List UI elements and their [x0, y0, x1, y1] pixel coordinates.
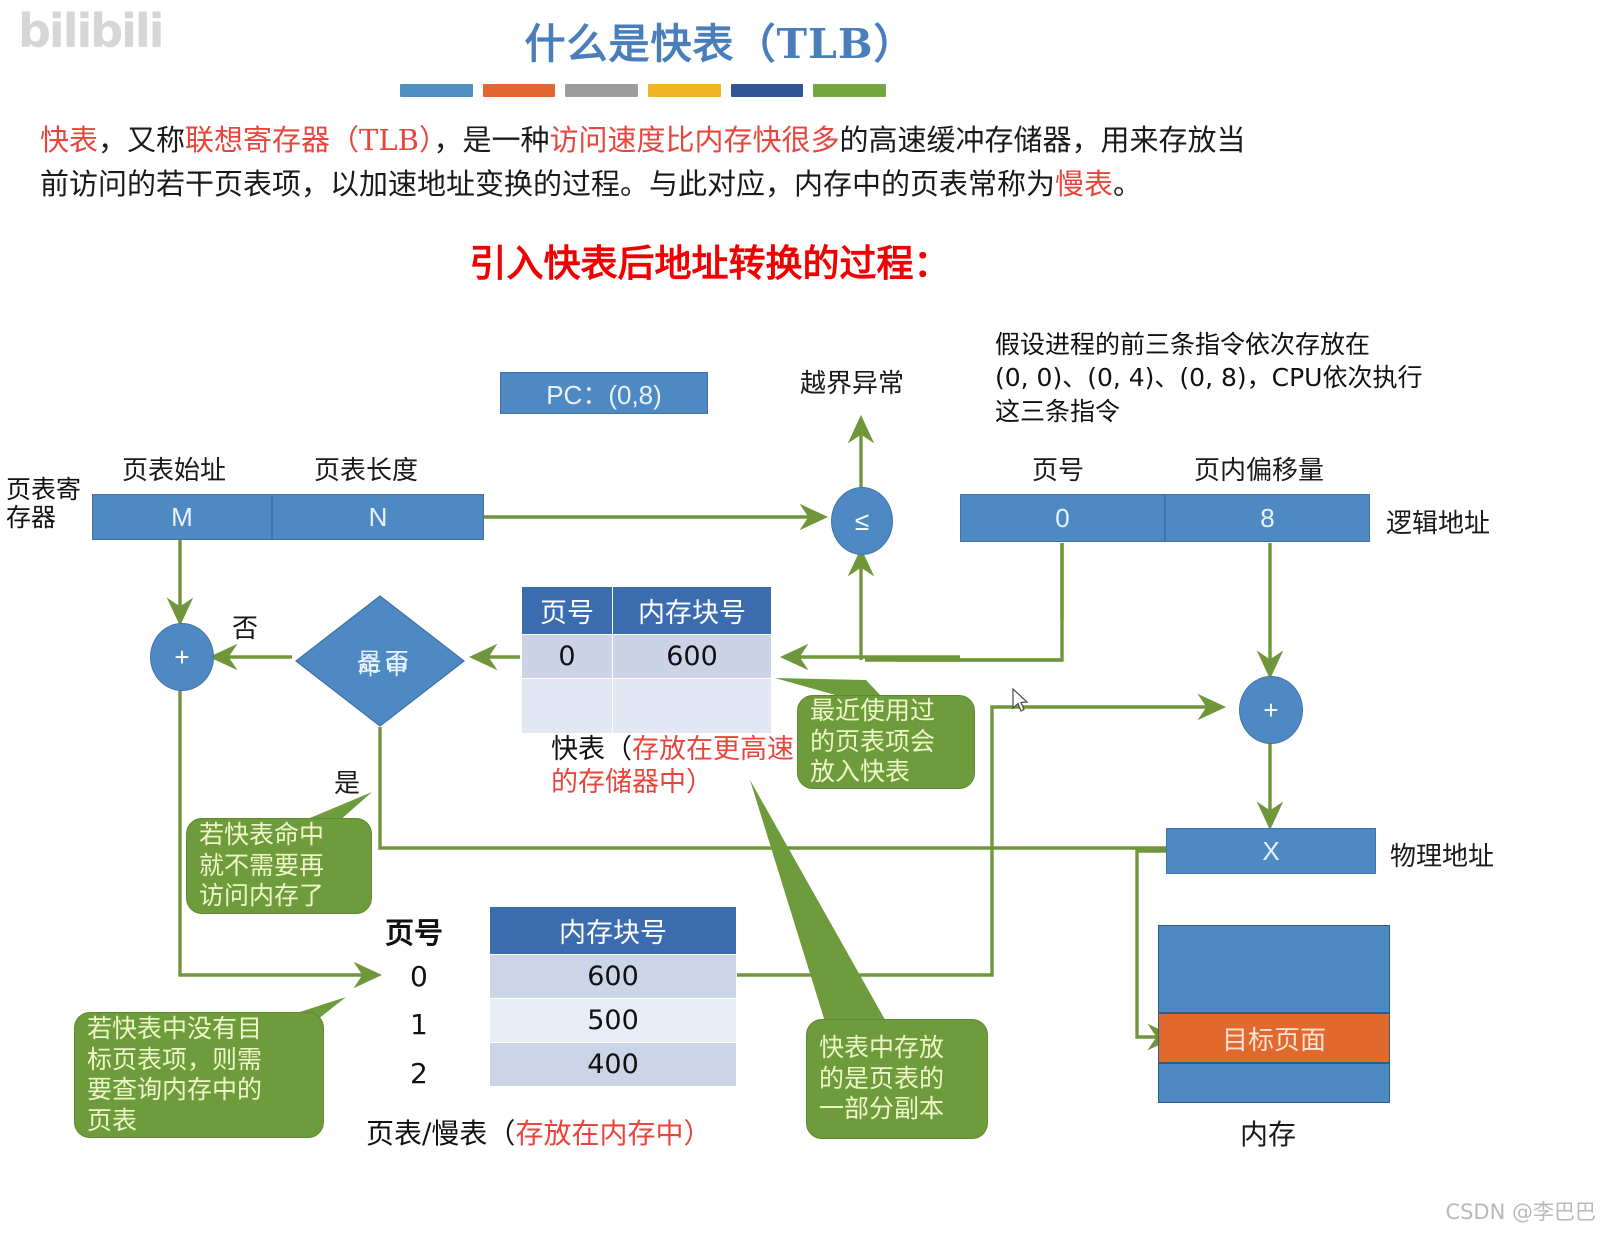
page-table-caption-black: 页表/慢表（ [366, 1117, 515, 1150]
page-table-caption: 页表/慢表（存放在内存中） [366, 1112, 711, 1152]
physical-address-box: X [1166, 828, 1376, 874]
page-table-value-2: 400 [490, 1043, 737, 1087]
logical-address-caption: 逻辑地址 [1386, 503, 1490, 540]
page-table-register-label-text: 页表寄存器 [6, 475, 81, 532]
accent-bar-4 [648, 84, 721, 97]
intro-text-4: ，是一种 [433, 123, 549, 157]
logical-address-offset: 8 [1165, 494, 1370, 542]
target-page-label: 目标页面 [1222, 1020, 1326, 1057]
intro-text-7: 前访问的若干页表项，以加速地址变换的过程。与此对应，内存中的页表常称为 [40, 167, 1055, 201]
tlb-hit-decision: 是否 命 中 [295, 595, 465, 727]
callout-miss-query-memory: 若快表中没有目 标页表项，则需 要查询内存中的 页表 [74, 1012, 324, 1138]
compare-circle: ≤ [831, 487, 893, 555]
memory-segment-target-page: 目标页面 [1158, 1013, 1390, 1063]
diamond-col-4: 中 [381, 653, 406, 677]
callout-hit-no-memory: 若快表命中 就不需要再 访问内存了 [186, 818, 372, 914]
tlb-table: 页号 内存块号 0 600 [521, 586, 772, 734]
physical-address-label: 物理地址 [1390, 836, 1494, 873]
tlb-cell-block-1 [613, 679, 772, 734]
tlb-caption-black: 快表（ [551, 734, 632, 765]
tlb-copy-callout-tail [740, 775, 920, 1035]
memory-label: 内存 [1240, 1113, 1296, 1153]
logical-page-number-label: 页号 [1032, 450, 1084, 487]
page-table-caption-red: 存放在内存中） [515, 1117, 711, 1150]
intro-text-3: 联想寄存器（TLB） [185, 123, 433, 157]
mouse-cursor-icon [1012, 688, 1030, 714]
title-accent-bars [400, 84, 886, 98]
register-field-length: N [272, 494, 484, 540]
section-subtitle: 引入快表后地址转换的过程： [400, 233, 1020, 287]
page-table-row-label-2: 2 [410, 1057, 428, 1090]
page-table-row-label-0: 0 [410, 960, 428, 993]
page-table-row-label-1: 1 [410, 1008, 428, 1041]
bilibili-watermark: bilibili [18, 4, 158, 62]
slide-canvas: bilibili 什么是快表（TLB） 快表，又称联想寄存器（TLB），是一种访… [0, 0, 1614, 1238]
intro-text-8: 慢表 [1055, 167, 1113, 201]
page-table-header-row: 内存块号 [490, 907, 737, 955]
page-table-element: 内存块号 600 500 400 [489, 906, 737, 1087]
memory-segment-bottom [1158, 1063, 1390, 1103]
logical-offset-label: 页内偏移量 [1194, 450, 1324, 487]
register-field-start-address: M [92, 494, 272, 540]
adder-circle-left: + [150, 623, 214, 691]
branch-no-label: 否 [232, 608, 258, 645]
page-table-length-label: 页表长度 [314, 450, 418, 487]
memory-segment-top [1158, 925, 1390, 1013]
page-table-value-1: 500 [490, 999, 737, 1043]
adder-circle-right: + [1239, 676, 1303, 744]
page-table-value-0: 600 [490, 955, 737, 999]
intro-text-2: ，又称 [98, 123, 185, 157]
table-row: 400 [490, 1043, 737, 1087]
tlb-cell-page-1 [522, 679, 613, 734]
tlb-table-header-row: 页号 内存块号 [522, 587, 772, 635]
table-row: 0 600 [522, 635, 772, 679]
page-table-row-label-header: 页号 [385, 910, 443, 952]
tlb-hit-decision-text: 是否 命 中 [295, 595, 465, 727]
pc-box: PC：(0,8) [500, 372, 708, 414]
page-table-header-block-number: 内存块号 [490, 907, 737, 955]
page-title: 什么是快表（TLB） [440, 10, 1000, 70]
tlb-header-block-number: 内存块号 [613, 587, 772, 635]
accent-bar-6 [813, 84, 886, 97]
diamond-col-3: 命 [353, 653, 378, 677]
accent-bar-2 [483, 84, 556, 97]
out-of-bounds-exception-label: 越界异常 [800, 363, 904, 400]
tlb-cell-block-0: 600 [613, 635, 772, 679]
table-row: 500 [490, 999, 737, 1043]
intro-text-1: 快表 [40, 123, 98, 157]
csdn-watermark: CSDN @李巴巴 [1445, 1196, 1596, 1226]
page-table-register-label: 页表寄存器 [6, 476, 86, 532]
table-row: 600 [490, 955, 737, 999]
logical-address-page-number: 0 [960, 494, 1165, 542]
tlb-table-element: 页号 内存块号 0 600 [521, 586, 772, 734]
intro-paragraph: 快表，又称联想寄存器（TLB），是一种访问速度比内存快很多的高速缓冲存储器，用来… [40, 118, 1330, 206]
callout-tlb-is-copy: 快表中存放 的是页表的 一部分副本 [806, 1019, 988, 1139]
page-table-start-address-label: 页表始址 [122, 450, 226, 487]
intro-text-9: 。 [1113, 167, 1142, 201]
cpu-instruction-note: 假设进程的前三条指令依次存放在 (0, 0)、(0, 4)、(0, 8)，CPU… [995, 328, 1465, 428]
accent-bar-3 [565, 84, 638, 97]
table-row [522, 679, 772, 734]
accent-bar-5 [731, 84, 804, 97]
page-table: 内存块号 600 500 400 [489, 906, 737, 1087]
intro-text-6: 的高速缓冲存储器，用来存放当 [839, 123, 1245, 157]
accent-bar-1 [400, 84, 473, 97]
intro-text-5: 访问速度比内存快很多 [549, 123, 839, 157]
tlb-header-page-number: 页号 [522, 587, 613, 635]
tlb-cell-page-0: 0 [522, 635, 613, 679]
